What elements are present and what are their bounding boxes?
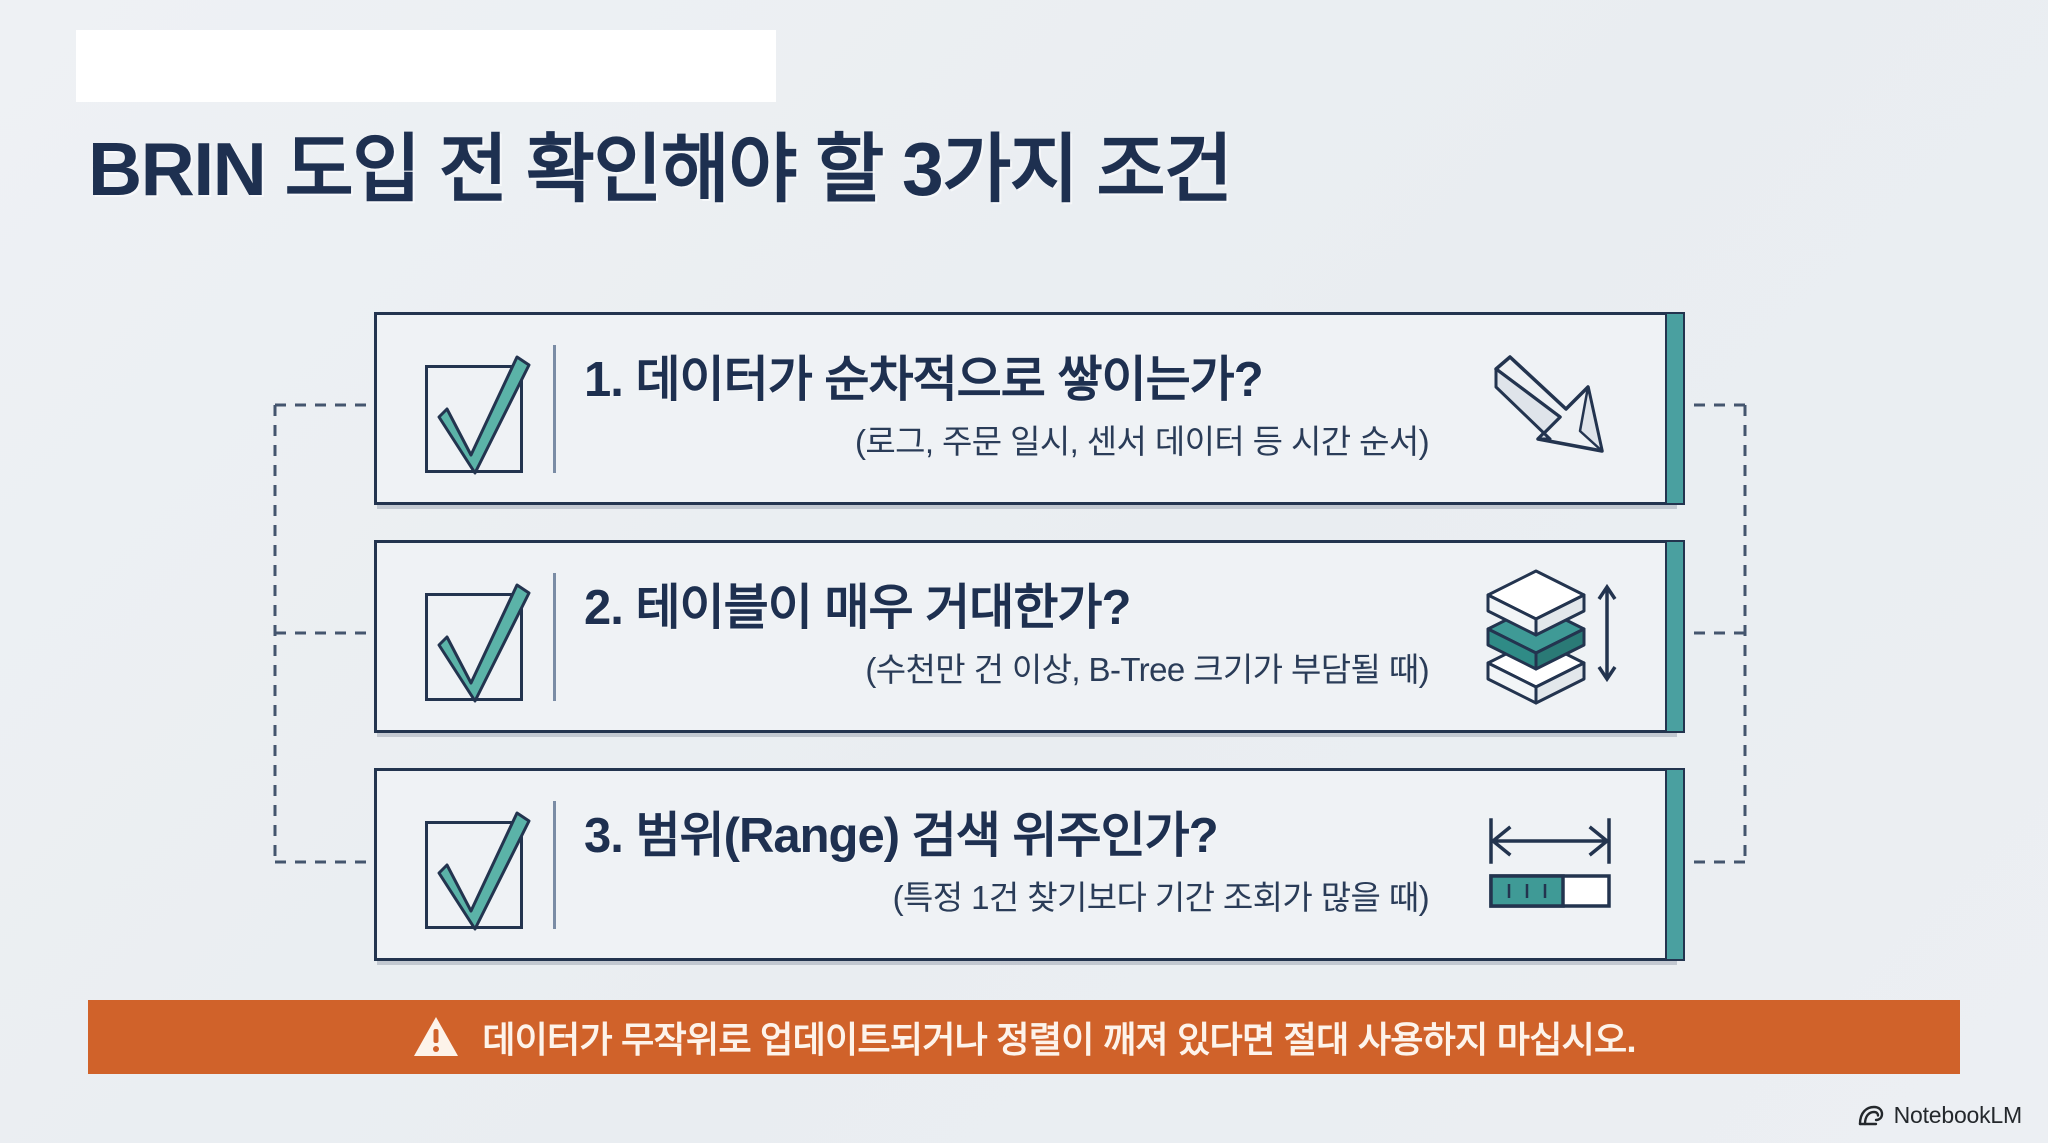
checkmark-icon [411, 343, 543, 475]
card-accent-bar [1665, 768, 1685, 961]
checkmark-icon [411, 799, 543, 931]
card-title-2: 2. 테이블이 매우 거대한가? [584, 582, 1439, 635]
checkbox-1[interactable] [411, 343, 543, 475]
checkmark-icon [411, 571, 543, 703]
footer-brand-label: NotebookLM [1894, 1102, 2022, 1129]
slide-canvas: BRIN 도입 전 확인해야 할 3가지 조건 [0, 0, 2048, 1143]
stacked-layers-icon [1455, 562, 1645, 712]
range-span-icon [1455, 790, 1645, 940]
card-subtitle-3: (특정 1건 찾기보다 기간 조회가 많을 때) [584, 871, 1439, 919]
checklist-card-3[interactable]: 3. 범위(Range) 검색 위주인가? (특정 1건 찾기보다 기간 조회가… [374, 768, 1674, 961]
warning-triangle-icon [412, 1015, 460, 1059]
checklist-card-1[interactable]: 1. 데이터가 순차적으로 쌓이는가? (로그, 주문 일시, 센서 데이터 등… [374, 312, 1674, 505]
checkbox-3[interactable] [411, 799, 543, 931]
card-text-1: 1. 데이터가 순차적으로 쌓이는가? (로그, 주문 일시, 센서 데이터 등… [584, 354, 1455, 464]
checkbox-2[interactable] [411, 571, 543, 703]
card-subtitle-1: (로그, 주문 일시, 센서 데이터 등 시간 순서) [584, 415, 1439, 463]
page-title: BRIN 도입 전 확인해야 할 3가지 조건 [88, 108, 1232, 217]
checklist-cards: 1. 데이터가 순차적으로 쌓이는가? (로그, 주문 일시, 센서 데이터 등… [374, 312, 1674, 996]
card-divider [553, 801, 556, 929]
card-text-3: 3. 범위(Range) 검색 위주인가? (특정 1건 찾기보다 기간 조회가… [584, 810, 1455, 920]
card-accent-bar [1665, 312, 1685, 505]
checklist-card-2[interactable]: 2. 테이블이 매우 거대한가? (수천만 건 이상, B-Tree 크기가 부… [374, 540, 1674, 733]
notebooklm-footer: NotebookLM [1857, 1102, 2022, 1129]
card-title-1: 1. 데이터가 순차적으로 쌓이는가? [584, 354, 1439, 407]
card-divider [553, 573, 556, 701]
warning-banner: 데이터가 무작위로 업데이트되거나 정렬이 깨져 있다면 절대 사용하지 마십시… [88, 1000, 1960, 1074]
card-text-2: 2. 테이블이 매우 거대한가? (수천만 건 이상, B-Tree 크기가 부… [584, 582, 1455, 692]
card-divider [553, 345, 556, 473]
card-title-3: 3. 범위(Range) 검색 위주인가? [584, 810, 1439, 863]
header-white-band [76, 30, 776, 102]
notebooklm-logo-icon [1857, 1104, 1885, 1128]
card-subtitle-2: (수천만 건 이상, B-Tree 크기가 부담될 때) [584, 643, 1439, 691]
down-right-arrow-icon [1455, 334, 1645, 484]
card-accent-bar [1665, 540, 1685, 733]
warning-text: 데이터가 무작위로 업데이트되거나 정렬이 깨져 있다면 절대 사용하지 마십시… [482, 1011, 1636, 1063]
